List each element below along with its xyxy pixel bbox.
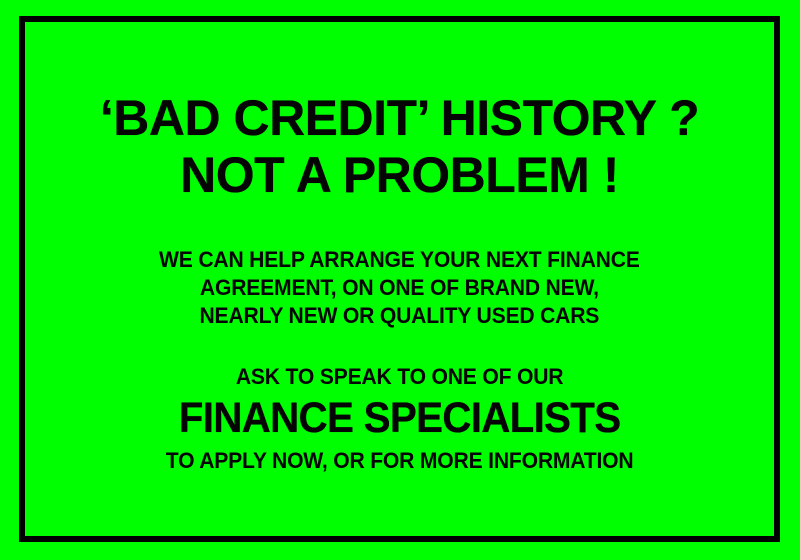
- body-line-1: WE CAN HELP ARRANGE YOUR NEXT FINANCE: [159, 246, 640, 274]
- poster-canvas: ‘BAD CREDIT’ HISTORY ? NOT A PROBLEM ! W…: [0, 0, 800, 560]
- body-line-2: AGREEMENT, ON ONE OF BRAND NEW,: [159, 274, 640, 302]
- headline-line-1: ‘BAD CREDIT’ HISTORY ?: [100, 90, 699, 147]
- call-to-action-block: ASK TO SPEAK TO ONE OF OUR FINANCE SPECI…: [156, 363, 643, 475]
- body-paragraph-block: WE CAN HELP ARRANGE YOUR NEXT FINANCE AG…: [149, 246, 650, 330]
- cta-footer-line: TO APPLY NOW, OR FOR MORE INFORMATION: [166, 447, 634, 475]
- cta-headline-finance-specialists: FINANCE SPECIALISTS: [171, 393, 629, 444]
- cta-prompt-line: ASK TO SPEAK TO ONE OF OUR: [166, 363, 634, 391]
- poster-content: ‘BAD CREDIT’ HISTORY ? NOT A PROBLEM ! W…: [19, 16, 780, 542]
- headline-line-2: NOT A PROBLEM !: [100, 147, 699, 204]
- body-line-3: NEARLY NEW OR QUALITY USED CARS: [159, 302, 640, 330]
- headline-block: ‘BAD CREDIT’ HISTORY ? NOT A PROBLEM !: [100, 90, 699, 204]
